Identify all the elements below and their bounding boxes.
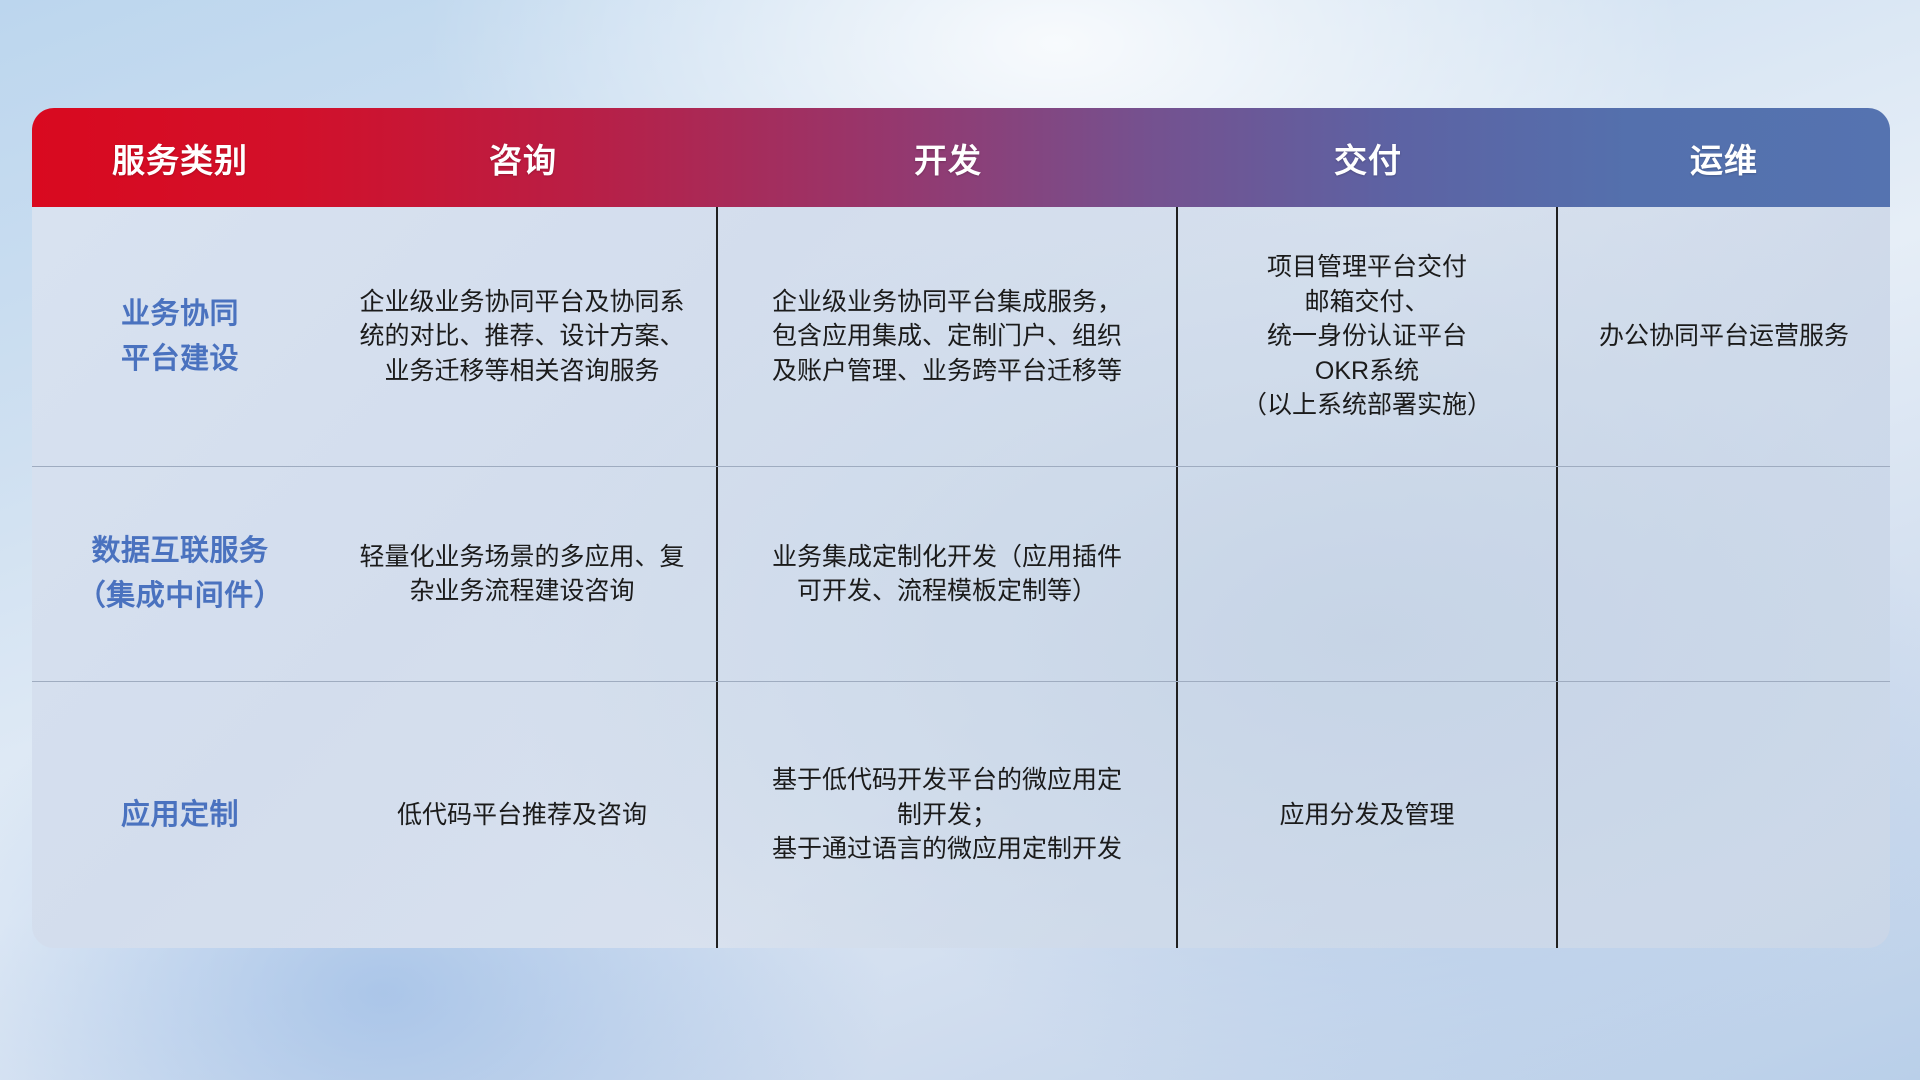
row-operations-cell: 办公协同平台运营服务 bbox=[1558, 207, 1890, 466]
table-row: 业务协同 平台建设 企业级业务协同平台及协同系 统的对比、推荐、设计方案、 业务… bbox=[32, 207, 1890, 467]
row-operations-cell bbox=[1558, 467, 1890, 681]
row-category-cell: 业务协同 平台建设 bbox=[32, 207, 328, 466]
table-row: 数据互联服务 （集成中间件） 轻量化业务场景的多应用、复 杂业务流程建设咨询 业… bbox=[32, 467, 1890, 682]
table-rows: 业务协同 平台建设 企业级业务协同平台及协同系 统的对比、推荐、设计方案、 业务… bbox=[32, 207, 1890, 948]
column-header-category[interactable]: 服务类别 bbox=[32, 134, 328, 182]
cell-text: 企业级业务协同平台及协同系 统的对比、推荐、设计方案、 业务迁移等相关咨询服务 bbox=[359, 285, 684, 389]
service-matrix-table: 服务类别 咨询 开发 交付 运维 业务协同 平台建设 企业级业务协同平台及协同系… bbox=[32, 108, 1890, 948]
row-development-cell: 业务集成定制化开发（应用插件 可开发、流程模板定制等） bbox=[718, 467, 1178, 681]
row-delivery-cell bbox=[1178, 467, 1558, 681]
column-header-delivery[interactable]: 交付 bbox=[1178, 134, 1558, 182]
row-category-label: 数据互联服务 （集成中间件） bbox=[77, 529, 284, 619]
cell-text: 低代码平台推荐及咨询 bbox=[397, 798, 647, 833]
row-category-cell: 应用定制 bbox=[32, 682, 328, 948]
table-row: 应用定制 低代码平台推荐及咨询 基于低代码开发平台的微应用定 制开发； 基于通过… bbox=[32, 682, 1890, 948]
cell-text: 应用分发及管理 bbox=[1279, 798, 1454, 833]
slide-canvas: 服务类别 咨询 开发 交付 运维 业务协同 平台建设 企业级业务协同平台及协同系… bbox=[0, 0, 1920, 1080]
row-operations-cell bbox=[1558, 682, 1890, 948]
row-consulting-cell: 轻量化业务场景的多应用、复 杂业务流程建设咨询 bbox=[328, 467, 718, 681]
cell-text: 轻量化业务场景的多应用、复 杂业务流程建设咨询 bbox=[359, 540, 684, 609]
row-consulting-cell: 企业级业务协同平台及协同系 统的对比、推荐、设计方案、 业务迁移等相关咨询服务 bbox=[328, 207, 718, 466]
cell-text: 项目管理平台交付 邮箱交付、 统一身份认证平台 OKR系统 （以上系统部署实施） bbox=[1242, 250, 1492, 423]
cell-text: 基于低代码开发平台的微应用定 制开发； 基于通过语言的微应用定制开发 bbox=[772, 763, 1122, 867]
row-delivery-cell: 项目管理平台交付 邮箱交付、 统一身份认证平台 OKR系统 （以上系统部署实施） bbox=[1178, 207, 1558, 466]
cell-text: 业务集成定制化开发（应用插件 可开发、流程模板定制等） bbox=[772, 540, 1122, 609]
row-development-cell: 企业级业务协同平台集成服务， 包含应用集成、定制门户、组织 及账户管理、业务跨平… bbox=[718, 207, 1178, 466]
cell-text: 企业级业务协同平台集成服务， 包含应用集成、定制门户、组织 及账户管理、业务跨平… bbox=[772, 285, 1122, 389]
column-header-consulting[interactable]: 咨询 bbox=[328, 134, 718, 182]
row-delivery-cell: 应用分发及管理 bbox=[1178, 682, 1558, 948]
table-header-row: 服务类别 咨询 开发 交付 运维 bbox=[32, 108, 1890, 207]
column-header-operations[interactable]: 运维 bbox=[1558, 134, 1890, 182]
cell-text: 办公协同平台运营服务 bbox=[1599, 319, 1849, 354]
row-development-cell: 基于低代码开发平台的微应用定 制开发； 基于通过语言的微应用定制开发 bbox=[718, 682, 1178, 948]
row-category-label: 业务协同 平台建设 bbox=[121, 292, 239, 382]
row-category-cell: 数据互联服务 （集成中间件） bbox=[32, 467, 328, 681]
row-category-label: 应用定制 bbox=[121, 793, 239, 838]
row-consulting-cell: 低代码平台推荐及咨询 bbox=[328, 682, 718, 948]
column-header-development[interactable]: 开发 bbox=[718, 134, 1178, 182]
